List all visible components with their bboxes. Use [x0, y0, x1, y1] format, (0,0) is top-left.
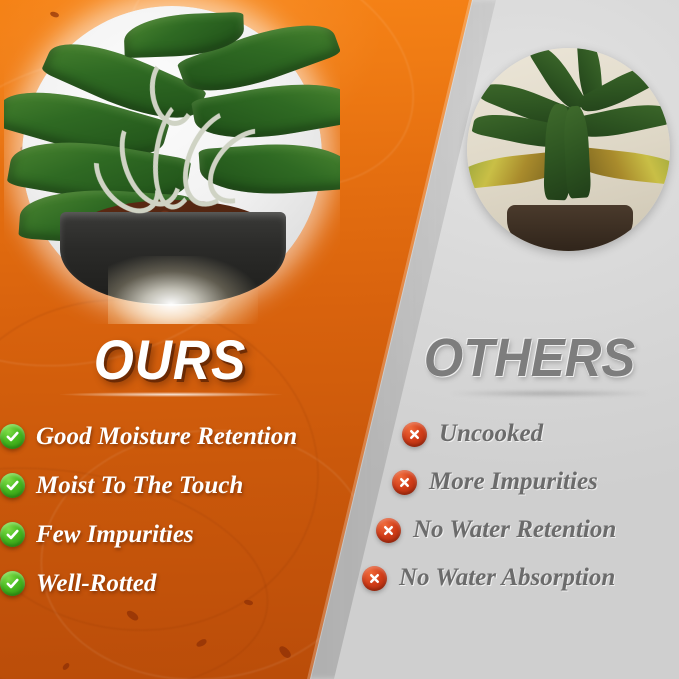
cross-icon [362, 566, 387, 591]
list-item-label: More Impurities [429, 468, 598, 496]
list-item: No Water Absorption [362, 554, 679, 602]
others-heading: OTHERS [389, 327, 670, 389]
list-item-label: Moist To The Touch [36, 472, 243, 500]
list-item: No Water Retention [376, 506, 679, 554]
check-icon [0, 522, 25, 547]
others-heading-underline [452, 390, 647, 397]
ours-heading: OURS [14, 327, 327, 392]
comparison-infographic: OURS OTHERS Good Moisture Retention Mois… [0, 0, 679, 679]
check-icon [0, 571, 25, 596]
list-item-label: No Water Retention [413, 516, 616, 544]
check-icon [0, 473, 25, 498]
check-icon [0, 424, 25, 449]
ours-product-photo [4, 0, 340, 324]
others-product-photo [467, 48, 670, 251]
cross-icon [402, 422, 427, 447]
list-item: More Impurities [392, 458, 679, 506]
list-item-label: Well-Rotted [36, 570, 156, 598]
list-item: Uncooked [402, 410, 679, 458]
plant-pot [507, 205, 633, 251]
list-item: Few Impurities [0, 510, 340, 559]
list-item: Moist To The Touch [0, 461, 340, 510]
list-item-label: Uncooked [439, 420, 543, 448]
list-item-label: Few Impurities [36, 521, 194, 549]
list-item: Well-Rotted [0, 559, 340, 608]
lens-flare-glow [108, 256, 258, 324]
list-item: Good Moisture Retention [0, 412, 340, 461]
list-item-label: Good Moisture Retention [36, 423, 297, 451]
others-drawbacks-list: Uncooked More Impurities No Water Retent… [388, 410, 679, 602]
cross-icon [376, 518, 401, 543]
ours-benefits-list: Good Moisture Retention Moist To The Tou… [0, 412, 340, 608]
list-item-label: No Water Absorption [399, 564, 615, 592]
ours-heading-underline [60, 392, 282, 397]
cross-icon [392, 470, 417, 495]
